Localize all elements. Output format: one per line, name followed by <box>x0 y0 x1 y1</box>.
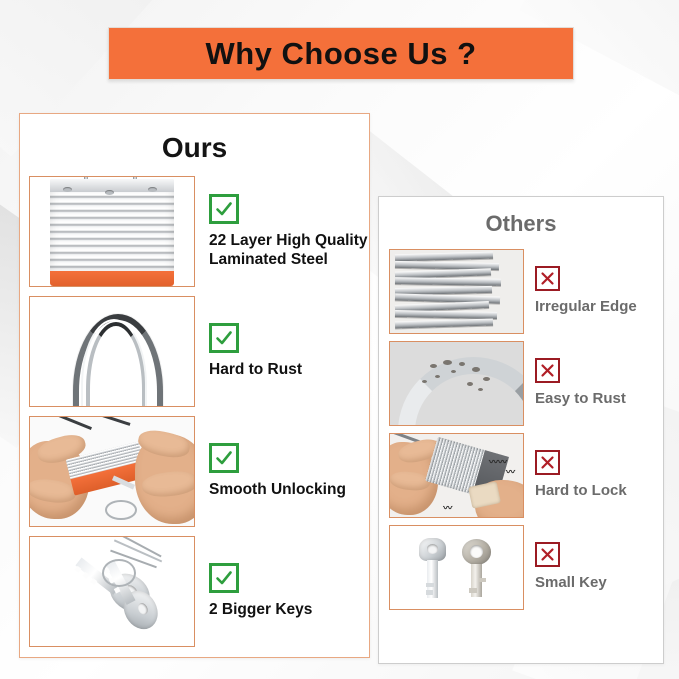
feature-text: Irregular Edge <box>535 266 637 316</box>
hand-struggling-with-lock-photo: 〰〰 〰 〰 <box>389 433 524 518</box>
laminated-steel-padlock-body-photo <box>29 176 195 287</box>
infographic-canvas: Why Choose Us ? Ours <box>0 0 679 679</box>
cross-icon <box>535 542 560 567</box>
uneven-metal-plate-stack-photo <box>389 249 524 334</box>
list-item: Irregular Edge <box>389 249 663 334</box>
list-item-label: Smooth Unlocking <box>209 481 346 500</box>
list-item-label: Easy to Rust <box>535 390 626 408</box>
feature-text: Smooth Unlocking <box>209 443 346 500</box>
hands-unlocking-orange-padlock-photo <box>29 416 195 527</box>
list-item: 2 Bigger Keys <box>29 536 369 647</box>
feature-text: Hard to Rust <box>209 323 302 380</box>
list-item: Hard to Rust <box>29 296 369 407</box>
page-title: Why Choose Us ? <box>205 36 476 72</box>
ours-panel: Ours <box>19 113 370 658</box>
feature-text: 22 Layer High Quality Laminated Steel <box>209 194 369 270</box>
cross-icon <box>535 450 560 475</box>
check-icon <box>209 194 239 224</box>
list-item-label: Small Key <box>535 574 607 592</box>
check-icon <box>209 563 239 593</box>
feature-text: Easy to Rust <box>535 358 626 408</box>
cross-icon <box>535 358 560 383</box>
ours-heading: Ours <box>20 132 369 164</box>
check-icon <box>209 443 239 473</box>
feature-text: 2 Bigger Keys <box>209 563 312 620</box>
title-banner: Why Choose Us ? <box>108 27 574 80</box>
rusted-shackle-photo <box>389 341 524 426</box>
others-feature-list: Irregular Edge <box>379 249 663 610</box>
list-item: 22 Layer High Quality Laminated Steel <box>29 176 369 287</box>
list-item-label: Irregular Edge <box>535 298 637 316</box>
feature-text: Small Key <box>535 542 607 592</box>
list-item: Smooth Unlocking <box>29 416 369 527</box>
list-item-label: Hard to Rust <box>209 361 302 380</box>
list-item: 〰〰 〰 〰 Hard to Lock <box>389 433 663 518</box>
chrome-shackle-photo <box>29 296 195 407</box>
two-small-keys-photo <box>389 525 524 610</box>
two-large-keys-on-ring-photo <box>29 536 195 647</box>
others-heading: Others <box>379 211 663 237</box>
others-panel: Others <box>378 196 664 664</box>
list-item-label: 22 Layer High Quality Laminated Steel <box>209 232 369 270</box>
list-item: Small Key <box>389 525 663 610</box>
ours-feature-list: 22 Layer High Quality Laminated Steel <box>20 176 369 647</box>
feature-text: Hard to Lock <box>535 450 627 500</box>
list-item-label: 2 Bigger Keys <box>209 601 312 620</box>
cross-icon <box>535 266 560 291</box>
check-icon <box>209 323 239 353</box>
list-item-label: Hard to Lock <box>535 482 627 500</box>
list-item: Easy to Rust <box>389 341 663 426</box>
